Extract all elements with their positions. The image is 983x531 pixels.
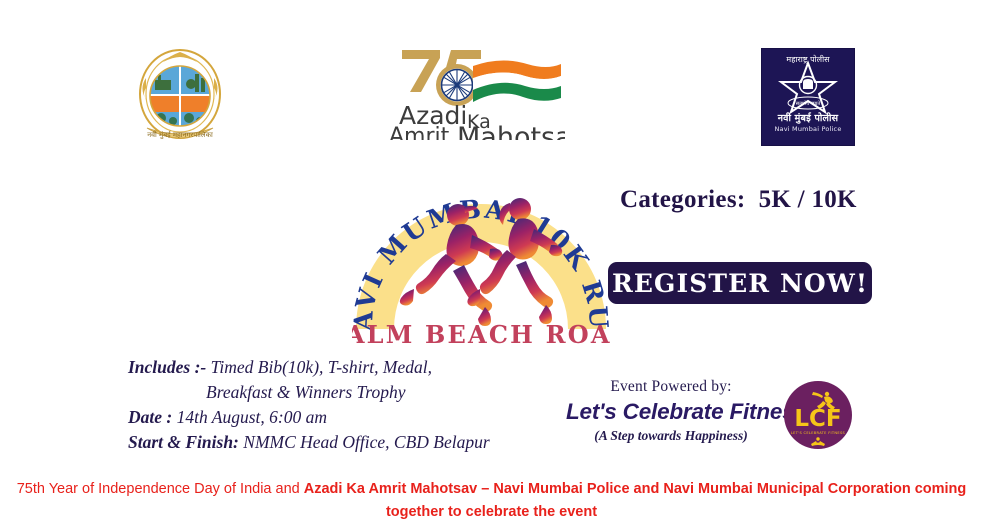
categories-line: Categories: 5K / 10K bbox=[620, 186, 920, 214]
run-logo-bottom-text: PALM BEACH ROAD bbox=[352, 320, 610, 349]
event-details-block: Includes :- Timed Bib(10k), T-shirt, Med… bbox=[128, 355, 548, 455]
details-label-date: Date : bbox=[128, 407, 172, 427]
details-value-includes-cont: Breakfast & Winners Trophy bbox=[206, 382, 405, 402]
caption-regular-text: 75th Year of Independence Day of India a… bbox=[17, 481, 304, 497]
nmmc-emblem: नवी मुंबई महानगरपालिका bbox=[133, 44, 227, 150]
police-emblem-motto: सत्यमेव जयते bbox=[796, 100, 821, 107]
details-value-start-finish: NMMC Head Office, CBD Belapur bbox=[243, 432, 489, 452]
lcf-subtext: LET'S CELEBRATE FITNESS bbox=[791, 431, 846, 435]
details-label-includes: Includes :- bbox=[128, 357, 206, 377]
register-now-label: REGISTER NOW! bbox=[608, 269, 872, 298]
lcf-monogram: LCF bbox=[794, 406, 841, 432]
sponsor-name: Let's Celebrate Fitness bbox=[566, 399, 776, 425]
details-row-includes-cont: Breakfast & Winners Trophy bbox=[128, 380, 548, 405]
navi-mumbai-police-logo: महाराष्ट्र पोलीस सत्यमेव जयते नवी मुंबई … bbox=[761, 48, 855, 146]
details-row-start-finish: Start & Finish: NMMC Head Office, CBD Be… bbox=[128, 430, 548, 455]
details-row-date: Date : 14th August, 6:00 am bbox=[128, 405, 548, 430]
event-poster: नवी मुंबई महानगरपालिका bbox=[0, 0, 983, 531]
details-row-includes: Includes :- Timed Bib(10k), T-shirt, Med… bbox=[128, 355, 548, 380]
azadi-word-mahotsav: Mahotsav bbox=[457, 122, 565, 140]
details-value-includes: Timed Bib(10k), T-shirt, Medal, bbox=[211, 357, 432, 377]
sponsor-powered-label: Event Powered by: bbox=[566, 378, 776, 396]
azadi-word-amrit: Amrit bbox=[389, 124, 450, 140]
sponsor-tagline: (A Step towards Happiness) bbox=[566, 428, 776, 444]
police-marathi-text: नवी मुंबई पोलीस bbox=[762, 111, 854, 124]
azadi-ka-amrit-mahotsav-logo: Azadi Ka Amrit Mahotsav bbox=[385, 42, 565, 140]
caption-bold-text: Azadi Ka Amrit Mahotsav – Navi Mumbai Po… bbox=[304, 481, 967, 520]
police-english-text: Navi Mumbai Police bbox=[762, 125, 854, 133]
lcf-circle-logo: LCF LET'S CELEBRATE FITNESS bbox=[783, 380, 853, 450]
details-label-start-finish: Start & Finish: bbox=[128, 432, 239, 452]
bottom-caption: 75th Year of Independence Day of India a… bbox=[0, 478, 983, 524]
nmmc-motto-text: नवी मुंबई महानगरपालिका bbox=[147, 130, 213, 139]
navi-mumbai-10k-run-logo: NAVI MUMBAI 10K RUN bbox=[352, 157, 610, 349]
sponsor-block: Event Powered by: Let's Celebrate Fitnes… bbox=[566, 378, 776, 444]
register-now-button[interactable]: REGISTER NOW! bbox=[608, 262, 872, 304]
details-value-date: 14th August, 6:00 am bbox=[177, 407, 327, 427]
